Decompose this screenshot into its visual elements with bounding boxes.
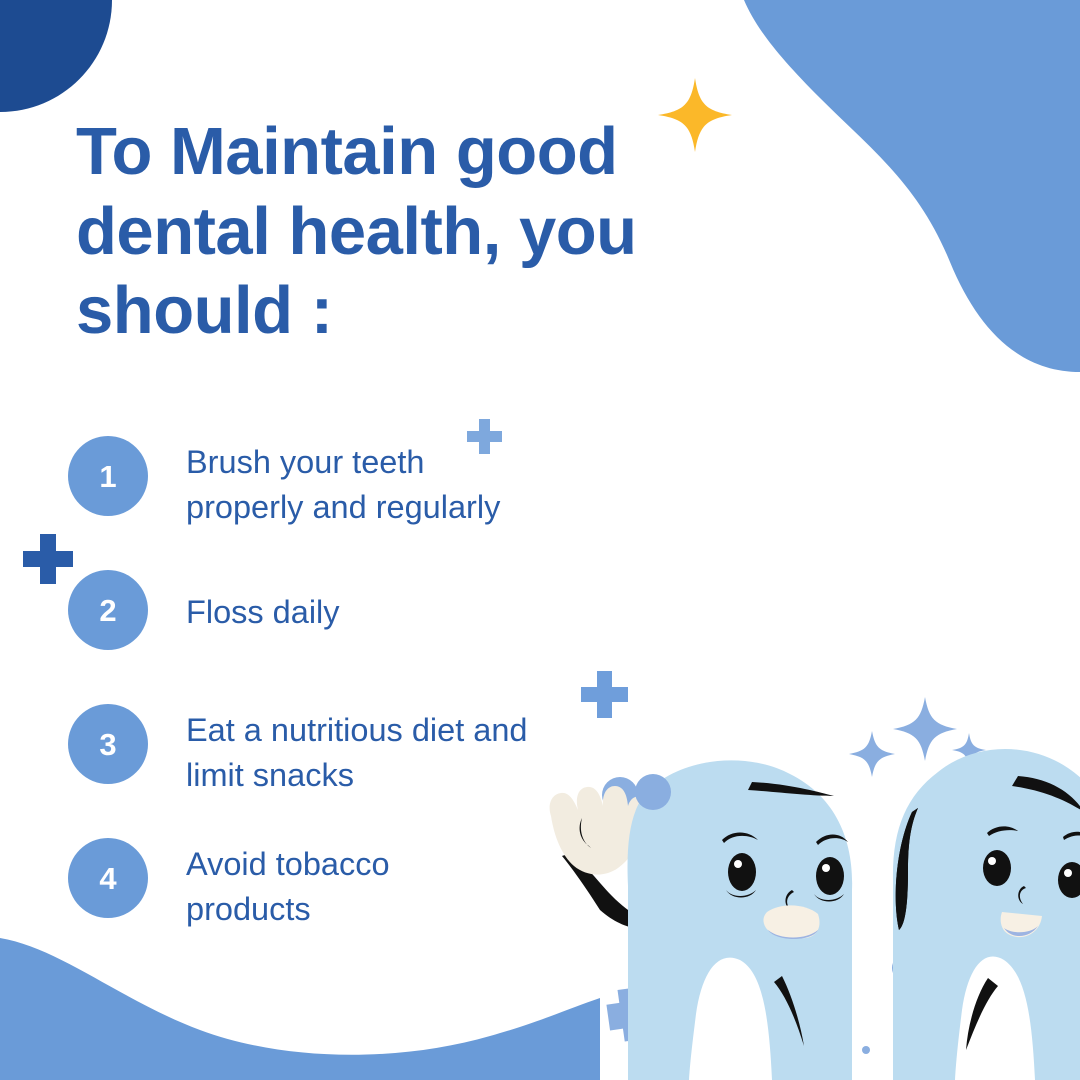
blue-wave-bottom-left [0,938,600,1080]
tooth-2-body [893,749,1080,1080]
step-label: Eat a nutritious diet and limit snacks [186,704,527,798]
sparkle-small-icon [849,731,895,777]
tooth-1-lip [768,930,818,939]
tooth-1-right-shade [896,808,918,930]
tooth-1-arm [562,855,644,928]
tooth-1-mouth [763,905,819,938]
tooth-2-nose [1018,886,1026,904]
tooth-2-eye-right [1058,862,1080,898]
tooth-2-eye-left [983,850,1011,886]
waving-tooth-mascot [550,760,918,1080]
tooth-1-eye-left [728,853,756,891]
step-number-badge: 1 [68,436,148,516]
step-number-badge: 3 [68,704,148,784]
tooth-1-eyebrow-left [722,833,758,844]
dental-health-poster: To Maintain good dental health, you shou… [0,0,1080,1080]
list-item: 4 Avoid tobacco products [68,838,390,932]
sparkle-tiny-icon [952,733,986,767]
page-title: To Maintain good dental health, you shou… [76,112,716,351]
blue-medical-cross-icon [605,985,664,1044]
step-label: Floss daily [186,570,340,635]
tooth-1-root-shade [774,976,804,1046]
navy-plus-icon [23,534,73,584]
navy-quarter-circle-top-left [0,0,112,112]
tooth-1-nose [785,890,794,910]
tooth-2-top-shade [1012,776,1080,812]
list-item: 1 Brush your teeth properly and regularl… [68,436,500,530]
tooth-2-left-shade [896,808,918,930]
tooth-1-eye-right [816,857,844,895]
tooth-1-shoulder-dot [635,774,671,810]
tooth-1-thumb-line [580,818,591,848]
step-label: Avoid tobacco products [186,838,390,932]
tooth-1-top-shade [748,782,834,796]
dot-large [892,954,920,982]
tooth-2-root-shade [966,978,998,1050]
tooth-1-eyebrow-right [816,835,848,846]
tooth-2-mouth [1001,912,1042,937]
smiling-tooth-mascot [893,749,1080,1080]
tooth-2-lip [1004,926,1038,936]
blue-s-curve-right [744,0,1080,372]
step-label: Brush your teeth properly and regularly [186,436,500,530]
sparkle-large-icon [893,697,957,761]
tooth-2-eyebrow-right [1063,832,1080,840]
tooth-2-eyebrow-left [987,826,1018,836]
step-number-badge: 2 [68,570,148,650]
blue-plus-icon [581,671,628,718]
list-item: 3 Eat a nutritious diet and limit snacks [68,704,527,798]
dot-tiny [862,1046,870,1054]
tooth-1-body [628,760,853,1080]
dot-shoulder [602,777,638,813]
step-number-badge: 4 [68,838,148,918]
tooth-sparkles [602,697,986,1054]
list-item: 2 Floss daily [68,570,340,650]
tooth-1-hand [550,786,649,875]
